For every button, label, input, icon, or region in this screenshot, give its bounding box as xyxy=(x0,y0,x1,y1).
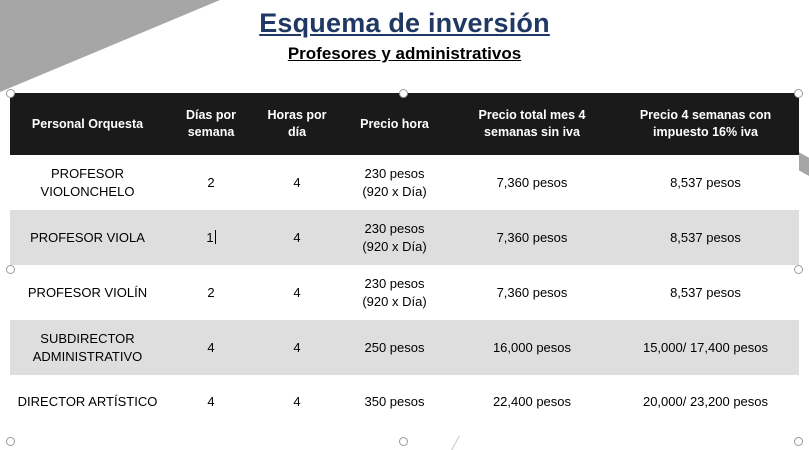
cell-dias[interactable]: 4 xyxy=(165,320,257,375)
table-row[interactable]: PROFESOR VIOLONCHELO 2 4 230 pesos (920 … xyxy=(10,155,799,210)
cell-personal[interactable]: PROFESOR VIOLÍN xyxy=(10,265,165,320)
resize-handle-middle-right[interactable] xyxy=(794,265,803,274)
cell-personal[interactable]: PROFESOR VIOLONCHELO xyxy=(10,155,165,210)
cell-horas[interactable]: 4 xyxy=(257,320,337,375)
resize-handle-top-right[interactable] xyxy=(794,89,803,98)
table-row[interactable]: DIRECTOR ARTÍSTICO 4 4 350 pesos 22,400 … xyxy=(10,375,799,428)
cell-precio-mes[interactable]: 16,000 pesos xyxy=(452,320,612,375)
column-header-precio-mes[interactable]: Precio total mes 4 semanas sin iva xyxy=(452,93,612,155)
decorative-bottom-tick xyxy=(451,436,459,450)
cell-precio-mes[interactable]: 22,400 pesos xyxy=(452,375,612,428)
text-cursor xyxy=(215,230,216,244)
cell-precio-iva[interactable]: 8,537 pesos xyxy=(612,155,799,210)
cell-dias[interactable]: 2 xyxy=(165,265,257,320)
cell-precio-iva[interactable]: 8,537 pesos xyxy=(612,210,799,265)
title-block: Esquema de inversión Profesores y admini… xyxy=(0,8,809,64)
cell-precio-iva[interactable]: 8,537 pesos xyxy=(612,265,799,320)
cell-dias[interactable]: 4 xyxy=(165,375,257,428)
cell-personal[interactable]: SUBDIRECTOR ADMINISTRATIVO xyxy=(10,320,165,375)
cell-precio-hora[interactable]: 230 pesos (920 x Día) xyxy=(337,210,452,265)
column-header-precio-hora[interactable]: Precio hora xyxy=(337,93,452,155)
cell-horas[interactable]: 4 xyxy=(257,265,337,320)
column-header-personal[interactable]: Personal Orquesta xyxy=(10,93,165,155)
cell-personal[interactable]: DIRECTOR ARTÍSTICO xyxy=(10,375,165,428)
cell-dias[interactable]: 2 xyxy=(165,155,257,210)
cell-precio-iva[interactable]: 15,000/ 17,400 pesos xyxy=(612,320,799,375)
table-header: Personal Orquesta Días por semana Horas … xyxy=(10,93,799,155)
column-header-dias[interactable]: Días por semana xyxy=(165,93,257,155)
cell-precio-hora[interactable]: 230 pesos (920 x Día) xyxy=(337,155,452,210)
column-header-horas[interactable]: Horas por día xyxy=(257,93,337,155)
cell-precio-mes[interactable]: 7,360 pesos xyxy=(452,265,612,320)
table-row[interactable]: PROFESOR VIOLA 1 4 230 pesos (920 x Día)… xyxy=(10,210,799,265)
cell-precio-mes[interactable]: 7,360 pesos xyxy=(452,155,612,210)
resize-handle-bottom-middle[interactable] xyxy=(399,437,408,446)
cell-dias[interactable]: 1 xyxy=(165,210,257,265)
resize-handle-bottom-right[interactable] xyxy=(794,437,803,446)
cell-precio-iva[interactable]: 20,000/ 23,200 pesos xyxy=(612,375,799,428)
cell-precio-mes[interactable]: 7,360 pesos xyxy=(452,210,612,265)
table-header-row: Personal Orquesta Días por semana Horas … xyxy=(10,93,799,155)
resize-handle-top-left[interactable] xyxy=(6,89,15,98)
cell-personal[interactable]: PROFESOR VIOLA xyxy=(10,210,165,265)
investment-table-container[interactable]: Personal Orquesta Días por semana Horas … xyxy=(10,93,799,428)
cell-precio-hora[interactable]: 250 pesos xyxy=(337,320,452,375)
resize-handle-bottom-left[interactable] xyxy=(6,437,15,446)
page-title: Esquema de inversión xyxy=(0,8,809,39)
resize-handle-top-middle[interactable] xyxy=(399,89,408,98)
resize-handle-middle-left[interactable] xyxy=(6,265,15,274)
column-header-precio-iva[interactable]: Precio 4 semanas con impuesto 16% iva xyxy=(612,93,799,155)
cell-horas[interactable]: 4 xyxy=(257,210,337,265)
page-subtitle: Profesores y administrativos xyxy=(0,44,809,64)
table-row[interactable]: SUBDIRECTOR ADMINISTRATIVO 4 4 250 pesos… xyxy=(10,320,799,375)
table-row[interactable]: PROFESOR VIOLÍN 2 4 230 pesos (920 x Día… xyxy=(10,265,799,320)
cell-precio-hora[interactable]: 230 pesos (920 x Día) xyxy=(337,265,452,320)
table-body: PROFESOR VIOLONCHELO 2 4 230 pesos (920 … xyxy=(10,155,799,428)
investment-table[interactable]: Personal Orquesta Días por semana Horas … xyxy=(10,93,799,428)
cell-horas[interactable]: 4 xyxy=(257,375,337,428)
cell-precio-hora[interactable]: 350 pesos xyxy=(337,375,452,428)
cell-horas[interactable]: 4 xyxy=(257,155,337,210)
